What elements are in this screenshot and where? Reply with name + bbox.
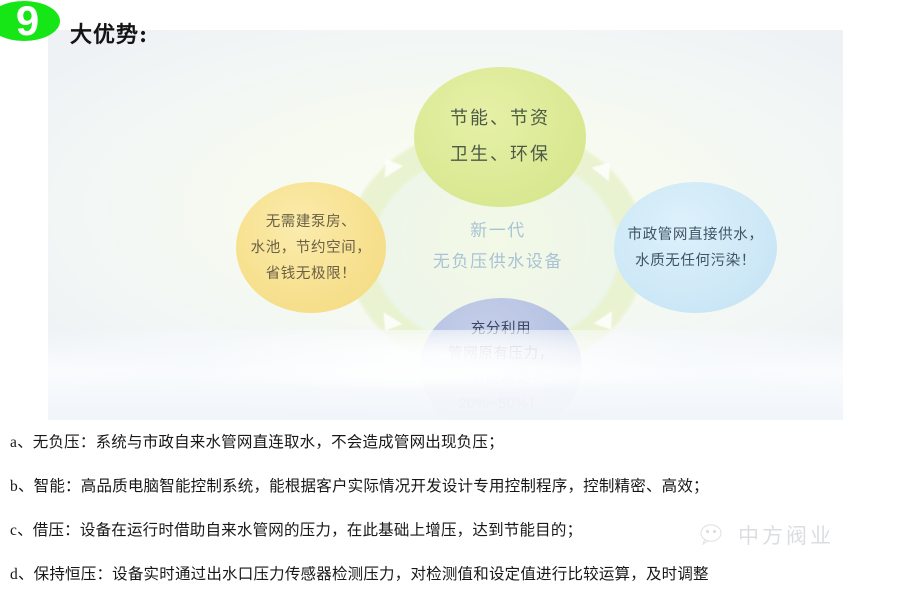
bubble-left: 无需建泵房、 水池，节约空间， 省钱无极限！ xyxy=(236,182,386,313)
diagram-center-label: 新一代 无负压供水设备 xyxy=(400,216,596,278)
number-badge: 9 xyxy=(0,1,60,41)
list-item: b、智能：高品质电脑智能控制系统，能根据客户实际情况开发设计专用控制程序，控制精… xyxy=(10,464,900,508)
list-item-marker: d、 xyxy=(10,566,34,583)
page-heading: 9 大优势: xyxy=(0,0,900,50)
bubble-left-line-3: 省钱无极限！ xyxy=(266,261,357,287)
diagram-panel: 新一代 无负压供水设备 节能、节资 卫生、环保 无需建泵房、 水池，节约空间， … xyxy=(48,30,843,420)
bubble-left-line-1: 无需建泵房、 xyxy=(266,209,357,235)
center-label-line-1: 新一代 xyxy=(400,216,596,247)
list-item: d、保持恒压：设备实时通过出水口压力传感器检测压力，对检测值和设定值进行比较运算… xyxy=(10,552,900,596)
list-item-text: 智能：高品质电脑智能控制系统，能根据客户实际情况开发设计专用控制程序，控制精密、… xyxy=(34,477,709,495)
center-label-line-2: 无负压供水设备 xyxy=(400,247,596,278)
list-item: c、借压：设备在运行时借助自来水管网的压力，在此基础上增压，达到节能目的； xyxy=(10,508,900,552)
bubble-right: 市政管网直接供水， 水质无任何污染！ xyxy=(614,182,777,313)
bubble-left-line-2: 水池，节约空间， xyxy=(251,235,372,261)
bubble-top-line-1: 节能、节资 xyxy=(450,101,550,137)
list-item-text: 保持恒压：设备实时通过出水口压力传感器检测压力，对检测值和设定值进行比较运算，及… xyxy=(34,565,709,583)
page-title: 大优势: xyxy=(70,17,148,49)
list-item-text: 无负压：系统与市政自来水管网直连取水，不会造成管网出现负压； xyxy=(33,433,504,451)
bubble-right-line-2: 水质无任何污染！ xyxy=(635,248,756,274)
list-item-text: 借压：设备在运行时借助自来水管网的压力，在此基础上增压，达到节能目的； xyxy=(33,521,583,539)
badge-number: 9 xyxy=(16,2,38,40)
bubble-right-line-1: 市政管网直接供水， xyxy=(628,222,764,248)
list-item-marker: c、 xyxy=(10,522,33,539)
bubble-top-line-2: 卫生、环保 xyxy=(450,137,550,173)
bubble-top: 节能、节资 卫生、环保 xyxy=(414,67,586,207)
panel-reflection xyxy=(48,330,843,420)
advantages-list: a、无负压：系统与市政自来水管网直连取水，不会造成管网出现负压； b、智能：高品… xyxy=(10,420,900,596)
list-item-marker: a、 xyxy=(10,434,33,451)
list-item: a、无负压：系统与市政自来水管网直连取水，不会造成管网出现负压； xyxy=(10,420,900,464)
list-item-marker: b、 xyxy=(10,478,34,495)
